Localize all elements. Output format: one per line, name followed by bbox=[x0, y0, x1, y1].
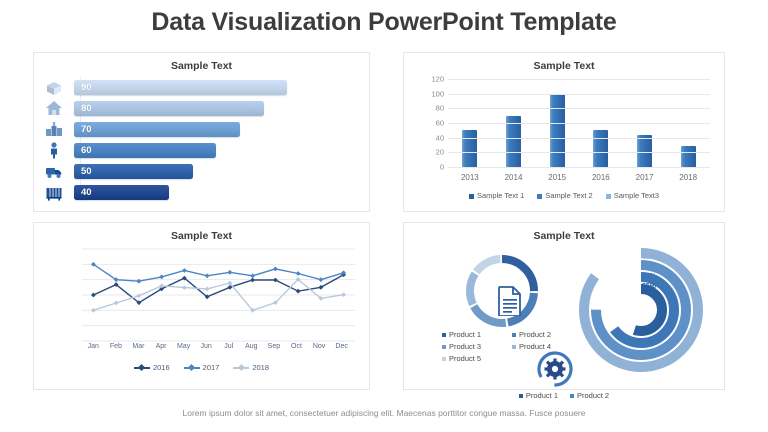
legend-line-marker bbox=[233, 365, 249, 371]
radial-value-label: 55% bbox=[642, 282, 656, 292]
legend-item[interactable]: Product 2 bbox=[570, 391, 609, 400]
legend-swatch bbox=[442, 357, 446, 361]
truck-icon bbox=[34, 162, 74, 180]
bar-segment[interactable]: 90 bbox=[74, 80, 287, 95]
gridline bbox=[448, 167, 710, 168]
x-axis-label: 2017 bbox=[623, 173, 667, 182]
column-bar[interactable] bbox=[550, 94, 565, 167]
legend-item[interactable]: Product 1 bbox=[519, 391, 558, 400]
legend-swatch bbox=[570, 394, 574, 398]
data-point[interactable] bbox=[227, 270, 232, 275]
line-series bbox=[93, 264, 343, 281]
data-point[interactable] bbox=[205, 273, 210, 278]
data-point[interactable] bbox=[182, 285, 187, 290]
x-axis-label: Oct bbox=[285, 343, 308, 350]
data-point[interactable] bbox=[318, 277, 323, 282]
chart-title-donut: Sample Text bbox=[404, 230, 724, 242]
data-point[interactable] bbox=[273, 278, 278, 283]
line-chart-area: 0%100%200%300%400%500%600% JanFebMarAprM… bbox=[34, 243, 369, 369]
x-axis-label: 2016 bbox=[579, 173, 623, 182]
x-axis-label: 2015 bbox=[535, 173, 579, 182]
bar-row[interactable]: 50 bbox=[34, 161, 369, 181]
panel-horizontal-bar-chart: Sample Text 908070605040 bbox=[33, 52, 370, 212]
gear-icon bbox=[537, 351, 573, 392]
legend-label: Product 3 bbox=[449, 342, 481, 351]
x-axis-label: 2013 bbox=[448, 173, 492, 182]
legend-label: Sample Text 1 bbox=[477, 191, 524, 200]
legend-swatch bbox=[469, 194, 474, 199]
bar-segment[interactable]: 60 bbox=[74, 143, 216, 158]
chart-title-bar: Sample Text bbox=[34, 60, 369, 72]
footer-text: Lorem ipsum dolor sit amet, consectetuer… bbox=[0, 408, 768, 418]
bar-value-label: 90 bbox=[74, 82, 92, 93]
legend-item[interactable]: Sample Text 2 bbox=[537, 191, 592, 200]
bar-row[interactable]: 80 bbox=[34, 98, 369, 118]
legend-label: Product 2 bbox=[577, 391, 609, 400]
radial-value-label: 65% bbox=[642, 272, 656, 282]
x-axis-label: Dec bbox=[330, 343, 353, 350]
page-title: Data Visualization PowerPoint Template bbox=[0, 8, 768, 37]
data-point[interactable] bbox=[341, 292, 346, 297]
column-bar[interactable] bbox=[462, 130, 477, 167]
gridline bbox=[448, 79, 710, 80]
y-axis-tick: 0 bbox=[440, 163, 444, 172]
legend-label: Product 5 bbox=[449, 354, 481, 363]
legend-swatch bbox=[442, 333, 446, 337]
legend-label: Product 1 bbox=[526, 391, 558, 400]
data-point[interactable] bbox=[296, 289, 301, 294]
legend-label: Sample Text3 bbox=[614, 191, 659, 200]
legend-label: Sample Text 2 bbox=[545, 191, 592, 200]
data-point[interactable] bbox=[91, 293, 96, 298]
bar-segment[interactable]: 40 bbox=[74, 185, 169, 200]
radial-bar-chart bbox=[576, 245, 706, 380]
document-icon bbox=[497, 286, 523, 321]
data-point[interactable] bbox=[91, 308, 96, 313]
bar-segment[interactable]: 50 bbox=[74, 164, 193, 179]
legend-swatch bbox=[442, 345, 446, 349]
legend-item[interactable]: 2016 bbox=[134, 363, 170, 372]
gridline bbox=[448, 108, 710, 109]
legend-item[interactable]: Product 1 bbox=[442, 329, 512, 341]
panel-column-chart: Sample Text 020406080100120 201320142015… bbox=[403, 52, 725, 212]
horizontal-bar-list: 908070605040 bbox=[34, 77, 369, 203]
bar-row[interactable]: 60 bbox=[34, 140, 369, 160]
legend-item[interactable]: Product 5 bbox=[442, 353, 512, 365]
legend-swatch bbox=[519, 394, 523, 398]
y-axis-tick: 120 bbox=[431, 75, 444, 84]
legend-label: 2016 bbox=[153, 363, 170, 372]
data-point[interactable] bbox=[182, 268, 187, 273]
x-axis-label: Apr bbox=[150, 343, 173, 350]
legend-swatch bbox=[512, 345, 516, 349]
bar-value-label: 50 bbox=[74, 166, 92, 177]
legend-swatch bbox=[606, 194, 611, 199]
legend-label: 2017 bbox=[203, 363, 220, 372]
column-bar[interactable] bbox=[681, 146, 696, 167]
radial-percent-labels: 85%75%65%55% bbox=[642, 253, 656, 291]
data-point[interactable] bbox=[136, 293, 141, 298]
line-legend: 201620172018 bbox=[34, 363, 369, 372]
legend-line-marker bbox=[184, 365, 200, 371]
package-icon bbox=[34, 78, 74, 96]
data-point[interactable] bbox=[273, 267, 278, 272]
legend-label: 2018 bbox=[252, 363, 269, 372]
radial-value-label: 85% bbox=[642, 253, 656, 263]
line-plot: 0%100%200%300%400%500%600% bbox=[82, 247, 353, 339]
column-plot: 020406080100120 bbox=[448, 79, 710, 167]
legend-item[interactable]: Product 2 bbox=[512, 329, 582, 341]
radial-legend: Product 1Product 2 bbox=[404, 391, 724, 400]
data-point[interactable] bbox=[205, 286, 210, 291]
radial-value-label: 75% bbox=[642, 263, 656, 273]
data-point[interactable] bbox=[114, 301, 119, 306]
x-axis-label: Sep bbox=[263, 343, 286, 350]
x-axis-label: Nov bbox=[308, 343, 331, 350]
legend-item[interactable]: Sample Text 1 bbox=[469, 191, 524, 200]
panel-donut-chart: Sample Text Product 1Product 2Product 3P… bbox=[403, 222, 725, 390]
data-point[interactable] bbox=[296, 271, 301, 276]
x-axis-label: 2018 bbox=[666, 173, 710, 182]
panel-line-chart: Sample Text 0%100%200%300%400%500%600% J… bbox=[33, 222, 370, 390]
factory-icon bbox=[34, 120, 74, 138]
data-point[interactable] bbox=[250, 273, 255, 278]
gridline bbox=[448, 123, 710, 124]
x-axis-label: Jun bbox=[195, 343, 218, 350]
cart-icon bbox=[34, 183, 74, 201]
y-axis-tick: 80 bbox=[436, 104, 444, 113]
column-x-axis: 201320142015201620172018 bbox=[448, 173, 710, 182]
gridline bbox=[448, 138, 710, 139]
legend-item[interactable]: 2017 bbox=[184, 363, 220, 372]
legend-item[interactable]: Product 3 bbox=[442, 341, 512, 353]
x-axis-label: Feb bbox=[105, 343, 128, 350]
bar-row[interactable]: 70 bbox=[34, 119, 369, 139]
radial-svg bbox=[576, 245, 706, 375]
chart-title-column: Sample Text bbox=[404, 60, 724, 72]
bar-value-label: 80 bbox=[74, 103, 92, 114]
y-axis-tick: 100 bbox=[431, 89, 444, 98]
chart-title-line: Sample Text bbox=[34, 230, 369, 242]
gridline bbox=[448, 152, 710, 153]
legend-line-marker bbox=[134, 365, 150, 371]
column-bar[interactable] bbox=[637, 135, 652, 167]
x-axis-label: Mar bbox=[127, 343, 150, 350]
y-axis-tick: 40 bbox=[436, 133, 444, 142]
legend-label: Product 1 bbox=[449, 330, 481, 339]
slide: Data Visualization PowerPoint Template S… bbox=[0, 0, 768, 432]
bar-segment[interactable]: 70 bbox=[74, 122, 240, 137]
person-icon bbox=[34, 141, 74, 159]
line-chart-svg: 0%100%200%300%400%500%600% bbox=[82, 247, 355, 343]
legend-label: Product 4 bbox=[519, 342, 551, 351]
data-point[interactable] bbox=[250, 278, 255, 283]
line-x-axis: JanFebMarAprMayJunJulAugSepOctNovDec bbox=[82, 343, 353, 350]
x-axis-label: Jan bbox=[82, 343, 105, 350]
x-axis-label: 2014 bbox=[492, 173, 536, 182]
data-point[interactable] bbox=[159, 275, 164, 280]
gridline bbox=[448, 94, 710, 95]
x-axis-label: Jul bbox=[217, 343, 240, 350]
x-axis-label: Aug bbox=[240, 343, 263, 350]
legend-item[interactable]: 2018 bbox=[233, 363, 269, 372]
legend-item[interactable]: Sample Text3 bbox=[606, 191, 659, 200]
bar-row[interactable]: 40 bbox=[34, 182, 369, 202]
home-icon bbox=[34, 99, 74, 117]
donut-chart-area: Product 1Product 2Product 3Product 4Prod… bbox=[404, 243, 724, 389]
bar-value-label: 40 bbox=[74, 187, 92, 198]
column-bar[interactable] bbox=[593, 130, 608, 167]
legend-swatch bbox=[537, 194, 542, 199]
column-legend: Sample Text 1Sample Text 2Sample Text3 bbox=[404, 191, 724, 200]
bar-segment[interactable]: 80 bbox=[74, 101, 264, 116]
legend-swatch bbox=[512, 333, 516, 337]
legend-label: Product 2 bbox=[519, 330, 551, 339]
y-axis-tick: 20 bbox=[436, 148, 444, 157]
bar-value-label: 60 bbox=[74, 145, 92, 156]
column-chart-area: 020406080100120 201320142015201620172018… bbox=[404, 73, 724, 191]
bar-value-label: 70 bbox=[74, 124, 92, 135]
bar-row[interactable]: 90 bbox=[34, 77, 369, 97]
x-axis-label: May bbox=[172, 343, 195, 350]
y-axis-tick: 60 bbox=[436, 119, 444, 128]
